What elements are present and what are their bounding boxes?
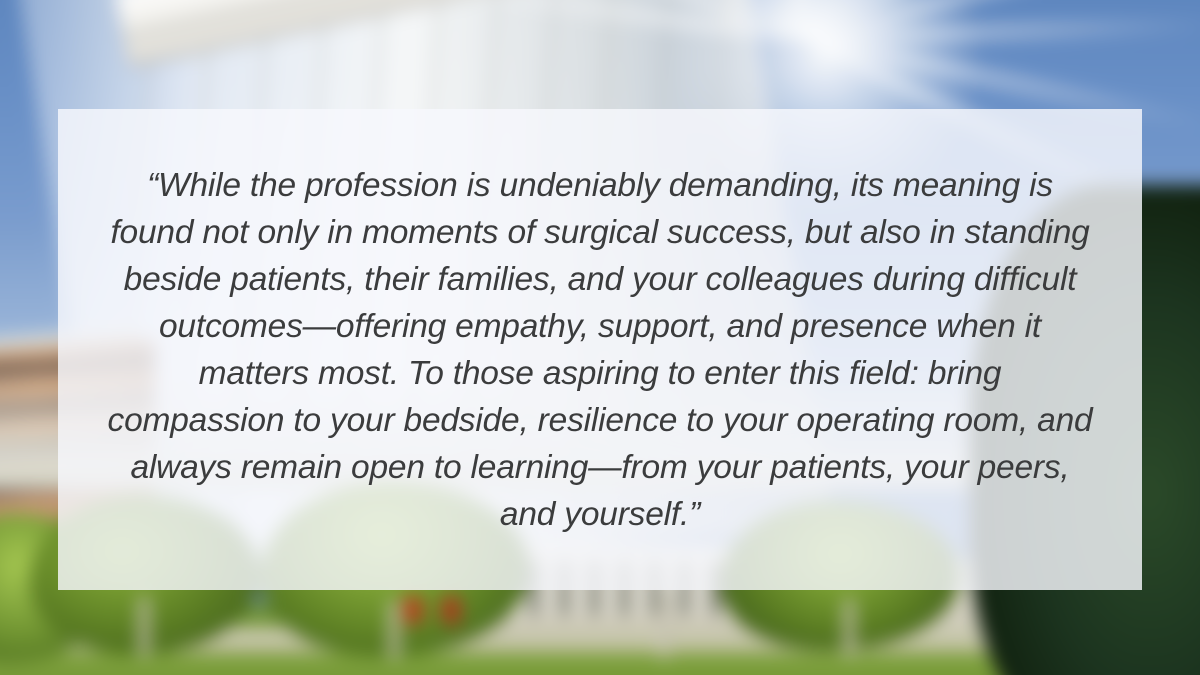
sun-rays (805, 32, 807, 34)
person-in-red (443, 597, 459, 623)
screenshot-stage: “While the profession is undeniably dema… (0, 0, 1200, 675)
quote-card: “While the profession is undeniably dema… (58, 109, 1142, 590)
tree-trunk (140, 597, 149, 657)
tree-trunk (845, 599, 854, 657)
tree-trunk (660, 593, 669, 659)
quote-text: “While the profession is undeniably dema… (106, 162, 1094, 538)
tree-trunk (390, 601, 399, 659)
person-in-red (405, 597, 421, 623)
